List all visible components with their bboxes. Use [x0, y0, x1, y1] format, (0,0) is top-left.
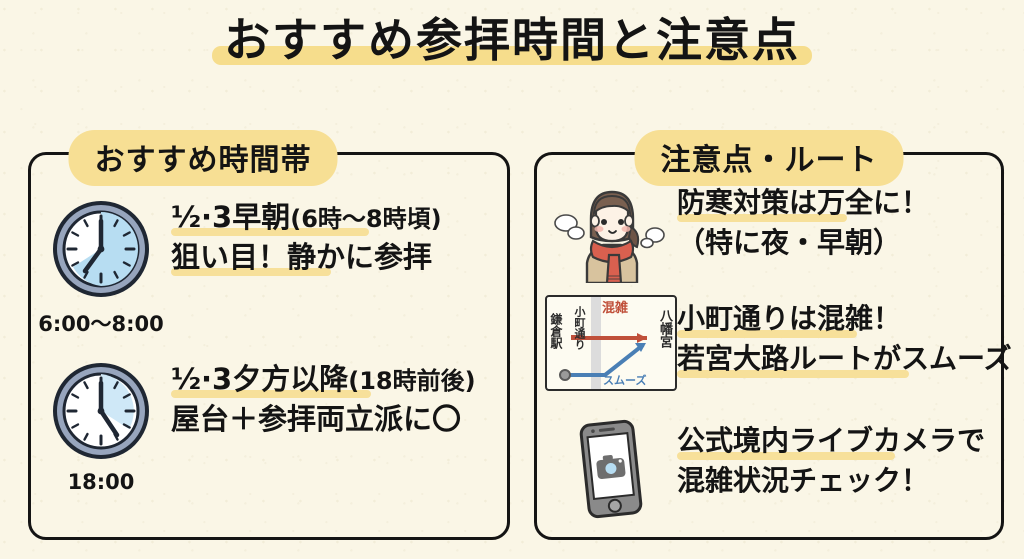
note-line-2-text: （特に夜・早朝）	[677, 226, 901, 259]
time-line-1: ½·3夕方以降(18時前後)	[171, 359, 476, 399]
note-row: 鎌倉駅 小町通り 混雑 八幡宮 スムーズ 小町通りは混雑！ 若宮大路ルートがスム…	[545, 295, 991, 391]
notes-route-header: 注意点・ルート	[635, 130, 904, 186]
time-line-1: ½·3早朝(6時〜8時頃)	[171, 197, 442, 237]
note-row: 防寒対策は万全に！ （特に夜・早朝）	[545, 179, 991, 283]
page-title: おすすめ参拝時間と注意点	[210, 14, 814, 67]
note-line-1: 公式境内ライブカメラで	[677, 421, 985, 461]
time-row: 18:00 ½·3夕方以降(18時前後) 屋台＋参拝両立派に〇	[31, 353, 495, 494]
note-line-1-text: 防寒対策は万全に！	[677, 186, 929, 219]
note-line-1: 小町通りは混雑！	[677, 299, 901, 339]
note-text-block: 防寒対策は万全に！ （特に夜・早朝）	[677, 179, 991, 263]
person-with-scarf-icon	[545, 179, 677, 283]
note-line-2: 若宮大路ルートがスムーズ	[677, 339, 1012, 379]
time-row: 6:00〜8:00 ½·3早朝(6時〜8時頃) 狙い目！静かに参拝	[31, 191, 495, 338]
clock-caption: 6:00〜8:00	[38, 308, 163, 338]
recommended-time-header: おすすめ時間帯	[69, 130, 338, 186]
time-line-1-main: ½·3夕方以降	[171, 362, 348, 396]
map-street-label: 小町通り	[574, 306, 585, 350]
recommended-time-card: おすすめ時間帯	[28, 152, 510, 540]
note-line-1-text: 公式境内ライブカメラで	[677, 424, 985, 457]
time-text-block: ½·3早朝(6時〜8時頃) 狙い目！静かに参拝	[171, 191, 495, 277]
map-station-label: 鎌倉駅	[550, 313, 562, 349]
note-line-1-text: 小町通りは混雑！	[677, 302, 901, 335]
note-line-2: （特に夜・早朝）	[677, 223, 901, 263]
clock-block: 18:00	[31, 353, 171, 494]
note-text-block: 公式境内ライブカメラで 混雑状況チェック！	[677, 417, 991, 501]
time-line-1-sub: (18時前後)	[348, 367, 475, 395]
clock-block: 6:00〜8:00	[31, 191, 171, 338]
smartphone-camera-icon	[545, 417, 677, 521]
notes-route-card: 注意点・ルート	[534, 152, 1004, 540]
note-text-block: 小町通りは混雑！ 若宮大路ルートがスムーズ	[677, 295, 1012, 379]
clock-caption: 18:00	[68, 470, 135, 494]
page-title-wrap: おすすめ参拝時間と注意点	[0, 14, 1024, 67]
time-line-2: 屋台＋参拝両立派に〇	[171, 399, 461, 439]
time-line-1-sub: (6時〜8時頃)	[290, 205, 441, 233]
note-row: 公式境内ライブカメラで 混雑状況チェック！	[545, 417, 991, 521]
route-map-box: 鎌倉駅 小町通り 混雑 八幡宮 スムーズ	[545, 295, 677, 391]
route-map-icon: 鎌倉駅 小町通り 混雑 八幡宮 スムーズ	[545, 295, 677, 391]
note-line-2: 混雑状況チェック！	[677, 461, 929, 501]
clock-icon	[47, 195, 155, 303]
time-text-block: ½·3夕方以降(18時前後) 屋台＋参拝両立派に〇	[171, 353, 495, 439]
time-line-1-main: ½·3早朝	[171, 200, 290, 234]
note-line-1: 防寒対策は万全に！	[677, 183, 929, 223]
page-title-text: おすすめ参拝時間と注意点	[224, 13, 800, 67]
map-crowded-label: 混雑	[602, 302, 628, 315]
map-smooth-label: スムーズ	[603, 375, 646, 386]
time-line-2: 狙い目！静かに参拝	[171, 237, 432, 277]
note-line-2-text: 若宮大路ルートがスムーズ	[677, 342, 1012, 375]
map-shrine-label: 八幡宮	[658, 309, 671, 348]
note-line-2-text: 混雑状況チェック！	[677, 464, 929, 497]
time-line-2-text: 狙い目！静かに参拝	[171, 240, 432, 274]
clock-icon	[47, 357, 155, 465]
time-line-2-text: 屋台＋参拝両立派に〇	[171, 402, 461, 436]
